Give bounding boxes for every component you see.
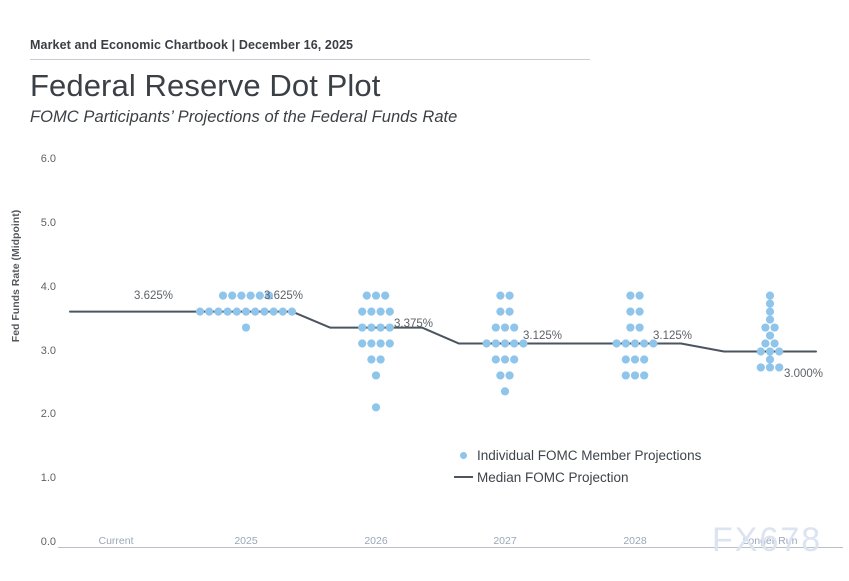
dot-marker	[766, 347, 774, 355]
dot-marker	[757, 347, 765, 355]
dot-marker	[219, 292, 227, 300]
dot-marker	[367, 323, 375, 331]
dot-marker	[205, 308, 213, 316]
dot-marker	[367, 355, 375, 363]
median-value-label: 3.000%	[784, 368, 823, 380]
dot-marker	[510, 355, 518, 363]
dot-marker	[622, 371, 630, 379]
dot-marker	[510, 339, 518, 347]
dot-marker	[775, 347, 783, 355]
dot-marker	[631, 339, 639, 347]
dot-marker	[766, 308, 774, 316]
median-value-label: 3.625%	[134, 290, 173, 302]
dot-marker	[636, 292, 644, 300]
dot-marker	[224, 308, 232, 316]
median-line-path	[70, 312, 816, 352]
dot-marker	[377, 323, 385, 331]
dot-marker	[506, 371, 514, 379]
legend-dot-icon	[452, 452, 474, 459]
dot-marker	[636, 308, 644, 316]
dot-marker	[626, 292, 634, 300]
dot-marker	[766, 355, 774, 363]
dot-marker	[496, 308, 504, 316]
dot-marker	[622, 355, 630, 363]
dot-marker	[386, 339, 394, 347]
dot-marker	[251, 308, 259, 316]
dot-marker	[358, 323, 366, 331]
legend-item-median: Median FOMC Projection	[452, 466, 701, 488]
dot-marker	[260, 308, 268, 316]
dot-marker	[757, 363, 765, 371]
dot-marker	[771, 339, 779, 347]
dot-marker	[377, 308, 385, 316]
dot-marker	[640, 355, 648, 363]
chart-legend: Individual FOMC Member Projections Media…	[452, 444, 701, 488]
dot-marker	[386, 308, 394, 316]
dot-marker	[626, 308, 634, 316]
dot-marker	[377, 339, 385, 347]
dot-marker	[622, 339, 630, 347]
dot-marker	[363, 292, 371, 300]
dot-marker	[510, 323, 518, 331]
dot-marker	[377, 355, 385, 363]
median-value-label: 3.125%	[653, 330, 692, 342]
dot-marker	[233, 308, 241, 316]
dot-plot-chart: Fed Funds Rate (Midpoint) 0.01.02.03.04.…	[0, 0, 849, 581]
dot-marker	[501, 387, 509, 395]
dot-marker	[386, 323, 394, 331]
median-value-label: 3.625%	[264, 290, 303, 302]
dot-marker	[640, 371, 648, 379]
dot-marker	[766, 315, 774, 323]
legend-item-individual: Individual FOMC Member Projections	[452, 444, 701, 466]
dot-marker	[242, 323, 250, 331]
legend-item-individual-label: Individual FOMC Member Projections	[474, 448, 701, 463]
watermark: FX678	[712, 521, 822, 560]
dot-marker	[214, 308, 222, 316]
dot-marker	[247, 292, 255, 300]
dot-marker	[288, 308, 296, 316]
legend-line-icon	[452, 476, 474, 478]
dot-marker	[506, 308, 514, 316]
median-value-label: 3.125%	[523, 330, 562, 342]
dot-marker	[492, 355, 500, 363]
dot-marker	[501, 323, 509, 331]
dot-marker	[761, 323, 769, 331]
dot-marker	[766, 363, 774, 371]
dot-marker	[501, 355, 509, 363]
median-value-label: 3.375%	[394, 318, 433, 330]
dot-marker	[775, 363, 783, 371]
dot-marker	[506, 292, 514, 300]
dot-marker	[766, 331, 774, 339]
dot-marker	[367, 339, 375, 347]
dot-marker	[228, 292, 236, 300]
dot-marker	[496, 371, 504, 379]
dot-marker	[501, 339, 509, 347]
dot-marker	[496, 292, 504, 300]
dot-markers-group	[196, 292, 783, 412]
dot-marker	[196, 308, 204, 316]
dot-marker	[372, 292, 380, 300]
dot-marker	[358, 339, 366, 347]
dot-marker	[771, 323, 779, 331]
plot-canvas	[0, 0, 849, 581]
dot-marker	[631, 371, 639, 379]
dot-marker	[492, 323, 500, 331]
dot-marker	[483, 339, 491, 347]
dot-marker	[761, 339, 769, 347]
dot-marker	[492, 339, 500, 347]
dot-marker	[270, 308, 278, 316]
dot-marker	[631, 355, 639, 363]
dot-marker	[766, 292, 774, 300]
dot-marker	[626, 323, 634, 331]
dot-marker	[256, 292, 264, 300]
legend-item-median-label: Median FOMC Projection	[474, 470, 629, 485]
dot-marker	[372, 403, 380, 411]
dot-marker	[358, 308, 366, 316]
dot-marker	[237, 292, 245, 300]
dot-marker	[242, 308, 250, 316]
median-line	[70, 312, 816, 352]
dot-marker	[367, 308, 375, 316]
dot-marker	[613, 339, 621, 347]
dot-marker	[766, 300, 774, 308]
dot-marker	[372, 371, 380, 379]
dot-marker	[636, 323, 644, 331]
dot-marker	[640, 339, 648, 347]
dot-marker	[279, 308, 287, 316]
dot-marker	[381, 292, 389, 300]
